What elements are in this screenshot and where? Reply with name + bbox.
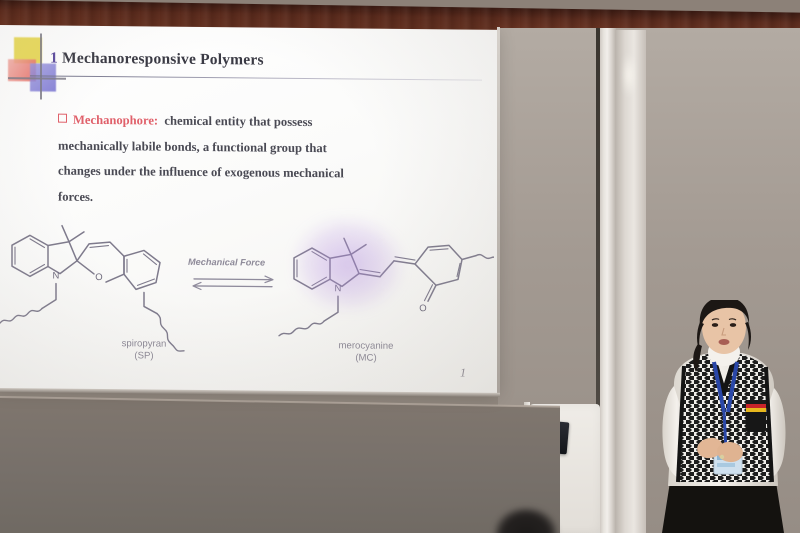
spiropyran-name: spiropyran <box>122 338 167 349</box>
slide-page-number: 1 <box>460 365 466 380</box>
chemistry-figure: N O <box>0 211 494 386</box>
square-bullet-icon <box>58 114 67 123</box>
mouth <box>719 339 730 345</box>
lower-wall <box>0 398 560 533</box>
bullet-line-3: changes under the influence of exogenous… <box>58 159 428 188</box>
merocyanine-abbr: (MC) <box>355 352 376 363</box>
page-title: 1 Mechanoresponsive Polymers <box>50 50 264 70</box>
skirt <box>662 482 784 533</box>
bullet-line-4: forces. <box>58 184 428 213</box>
bullet-line-2: mechanically labile bonds, a functional … <box>58 133 428 162</box>
title-text: Mechanoresponsive Polymers <box>62 50 264 69</box>
bullet-line-1: Mechanophore: chemical entity that posse… <box>58 108 428 137</box>
spiropyran-label: spiropyran (SP) <box>84 338 204 363</box>
flag-stripe-red <box>746 404 766 408</box>
right-eye <box>730 323 736 327</box>
left-eye <box>712 323 718 327</box>
projection-screen: 1 Mechanoresponsive Polymers Mechanophor… <box>0 25 498 396</box>
merocyanine-name: merocyanine <box>339 340 394 352</box>
svg-text:O: O <box>419 303 426 314</box>
presenter-svg <box>638 300 800 533</box>
column-light-reflection <box>622 52 636 98</box>
deco-line-vertical <box>40 33 42 99</box>
flag-stripe-black <box>746 400 766 404</box>
merocyanine-label: merocyanine (MC) <box>306 340 426 365</box>
screen-frame-right <box>497 27 500 393</box>
bullet-text-1: chemical entity that possess <box>164 114 312 129</box>
presenter-person <box>638 300 800 533</box>
bullet-paragraph: Mechanophore: chemical entity that posse… <box>58 108 428 214</box>
spiropyran-abbr: (SP) <box>134 350 153 361</box>
flag-stripe-gold <box>746 408 766 412</box>
title-underline-rule <box>30 75 482 80</box>
arrow-label: Mechanical Force <box>188 257 265 268</box>
title-number: 1 <box>50 50 58 67</box>
conference-room-photo: 1 Mechanoresponsive Polymers Mechanophor… <box>0 0 800 533</box>
bullet-term: Mechanophore: <box>73 113 158 128</box>
svg-text:N: N <box>53 271 60 282</box>
wall-column-left <box>600 28 616 533</box>
ring <box>720 455 724 459</box>
svg-text:O: O <box>95 272 102 283</box>
badge-line-2 <box>717 463 735 467</box>
merocyanine-glow <box>292 216 404 313</box>
